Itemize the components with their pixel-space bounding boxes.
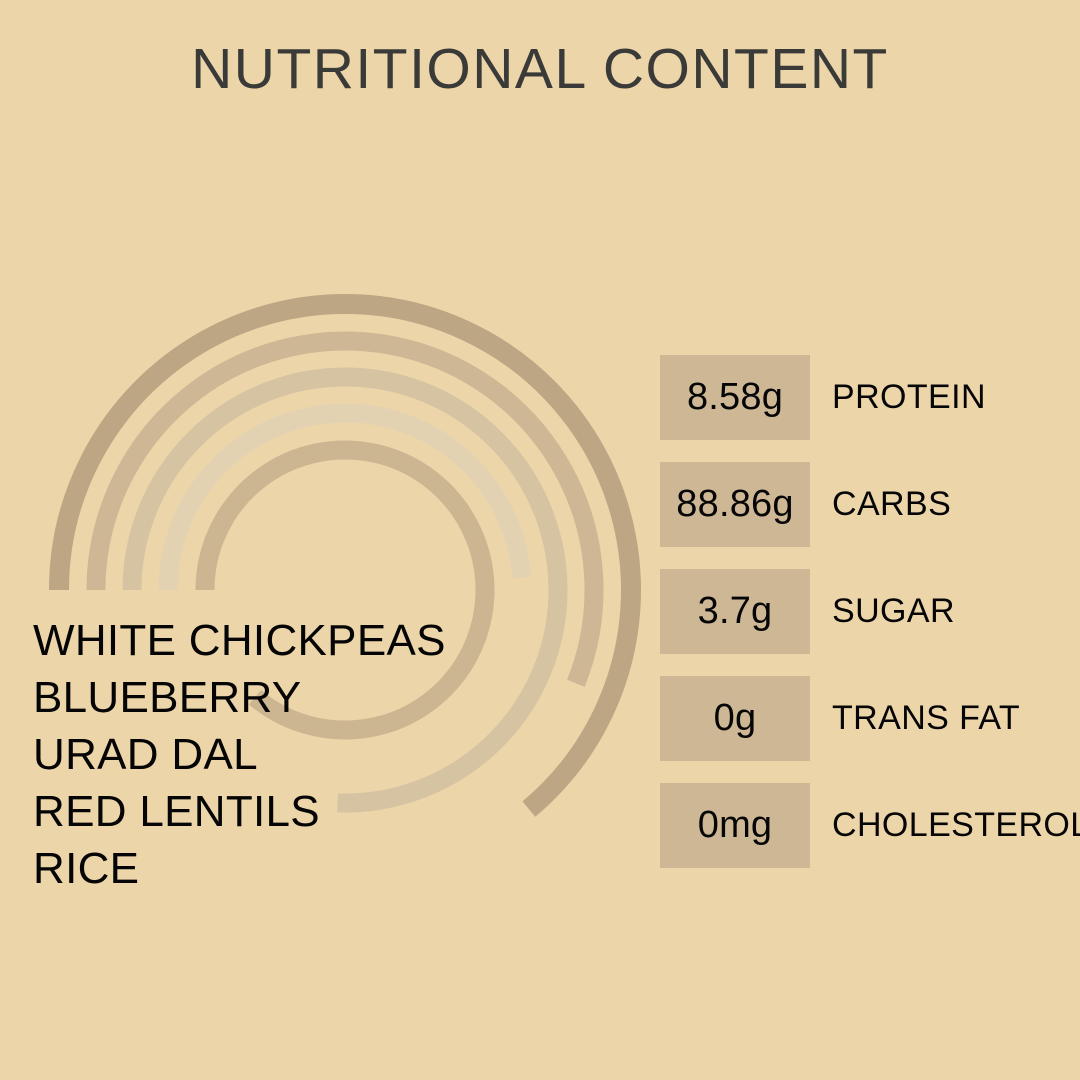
value-badge: 8.58g: [660, 355, 810, 440]
nutrition-facts-list: 8.58g PROTEIN 88.86g CARBS 3.7g SUGAR 0g…: [660, 355, 1080, 868]
nutrition-row-cholesterol: 0mg CHOLESTEROL: [660, 783, 1080, 868]
nutrition-label: SUGAR: [832, 592, 955, 631]
nutrition-row-trans-fat: 0g TRANS FAT: [660, 676, 1080, 761]
nutrition-label: PROTEIN: [832, 378, 986, 417]
nutrition-label: TRANS FAT: [832, 699, 1020, 738]
nutrition-row-sugar: 3.7g SUGAR: [660, 569, 1080, 654]
nutrition-value: 88.86g: [676, 483, 793, 526]
list-item: URAD DAL: [33, 726, 633, 783]
page-title: NUTRITIONAL CONTENT: [0, 36, 1080, 102]
value-badge: 3.7g: [660, 569, 810, 654]
nutrition-value: 0g: [714, 697, 757, 740]
nutrition-value: 3.7g: [698, 590, 773, 633]
value-badge: 88.86g: [660, 462, 810, 547]
nutrition-row-protein: 8.58g PROTEIN: [660, 355, 1080, 440]
list-item: RED LENTILS: [33, 783, 633, 840]
list-item: RICE: [33, 840, 633, 897]
nutrition-label: CHOLESTEROL: [832, 806, 1080, 845]
nutrition-row-carbs: 88.86g CARBS: [660, 462, 1080, 547]
list-item: WHITE CHICKPEAS: [33, 612, 633, 669]
nutrition-value: 8.58g: [687, 376, 783, 419]
decorative-arc-4: [168, 413, 522, 590]
value-badge: 0mg: [660, 783, 810, 868]
ingredient-list: WHITE CHICKPEAS BLUEBERRY URAD DAL RED L…: [33, 612, 633, 897]
nutrition-label: CARBS: [832, 485, 951, 524]
list-item: BLUEBERRY: [33, 669, 633, 726]
nutrition-value: 0mg: [698, 804, 773, 847]
value-badge: 0g: [660, 676, 810, 761]
infographic-canvas: NUTRITIONAL CONTENT WHITE CHICKPEAS BLUE…: [0, 0, 1080, 1080]
